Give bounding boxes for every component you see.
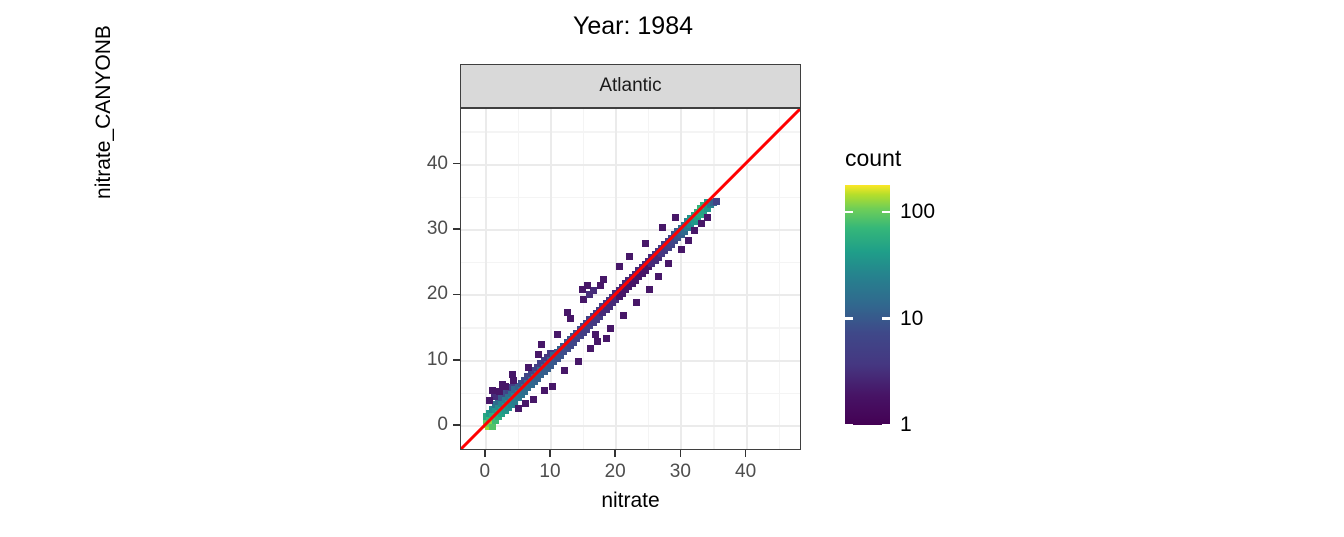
plot-panel [460, 108, 801, 450]
y-axis-tick [453, 163, 460, 165]
x-axis-tick-label: 0 [479, 461, 490, 483]
legend-tick-mark [845, 211, 853, 214]
y-axis-title: nitrate_CANYONB [92, 0, 116, 292]
x-axis-tick-label: 40 [735, 461, 756, 483]
y-axis-tick-label: 40 [0, 153, 448, 175]
x-axis-title: nitrate [460, 489, 801, 513]
page-title: Year: 1984 [463, 12, 803, 41]
legend-title: count [845, 145, 901, 172]
x-axis-tick [549, 450, 551, 457]
legend-tick-mark [845, 317, 853, 320]
y-axis-tick-label: 10 [0, 349, 448, 371]
facet-strip-label: Atlantic [461, 75, 800, 97]
x-axis-tick-label: 30 [670, 461, 691, 483]
legend-colorbar [845, 185, 890, 425]
y-axis-tick-label: 0 [0, 414, 448, 436]
x-axis-tick [680, 450, 682, 457]
legend-tick-label: 1 [900, 413, 912, 437]
legend-tick-label: 100 [900, 200, 935, 224]
reference-line [461, 109, 800, 449]
legend-tick-mark [882, 211, 890, 214]
legend-tick-label: 10 [900, 307, 923, 331]
y-axis-tick [453, 359, 460, 361]
x-axis-tick [614, 450, 616, 457]
y-axis-tick [453, 228, 460, 230]
y-axis-tick-label: 20 [0, 283, 448, 305]
y-axis-tick [453, 294, 460, 296]
legend-tick-mark [882, 424, 890, 427]
x-axis-tick [745, 450, 747, 457]
y-axis-tick [453, 424, 460, 426]
legend-tick-mark [845, 424, 853, 427]
x-axis-tick-label: 10 [539, 461, 560, 483]
facet-strip: Atlantic [460, 64, 801, 108]
legend-tick-mark [882, 317, 890, 320]
x-axis-tick [484, 450, 486, 457]
plot-root: Year: 1984 Atlantic 010203040010203040 n… [0, 0, 1344, 537]
y-axis-tick-label: 30 [0, 218, 448, 240]
x-axis-tick-label: 20 [605, 461, 626, 483]
